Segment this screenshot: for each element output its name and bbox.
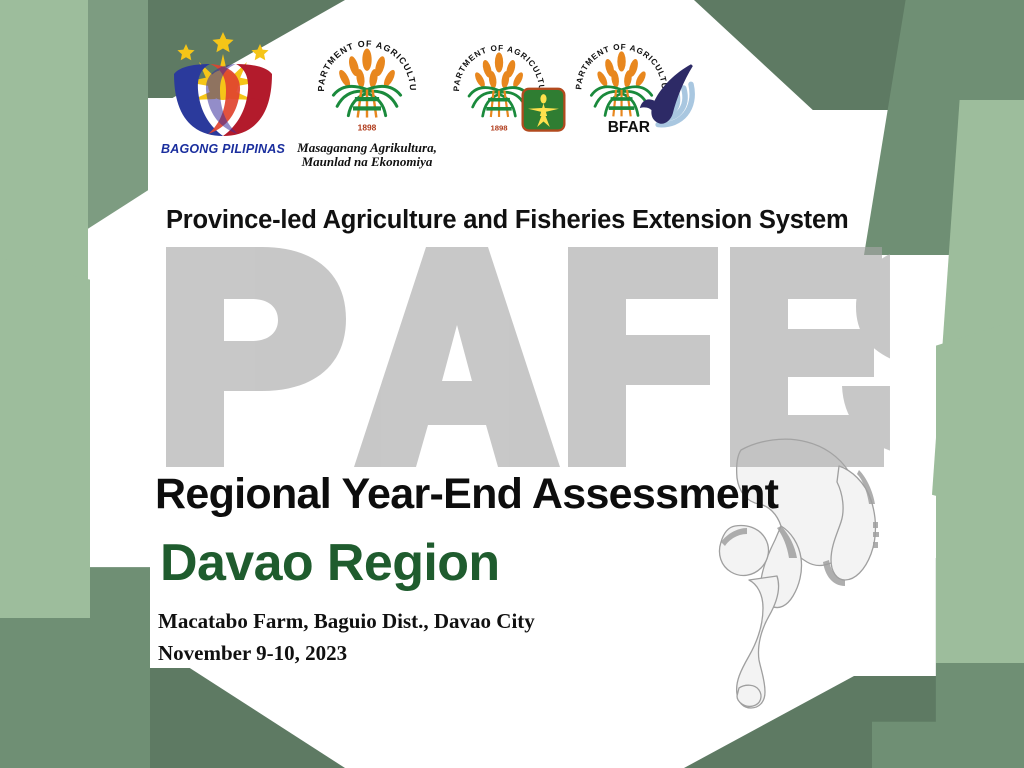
bagong-pilipinas-logo-icon	[164, 28, 282, 140]
bagong-pilipinas-logo: BAGONG PILIPINAS	[162, 28, 284, 168]
da-tagline-line2: Maunlad na Ekonomiya	[297, 155, 437, 170]
svg-text:1898: 1898	[490, 124, 508, 133]
decor-top-right-light	[932, 100, 1024, 520]
da-tagline-line1: Masaganang Agrikultura,	[297, 141, 437, 156]
region-name: Davao Region	[160, 533, 500, 593]
svg-text:1898: 1898	[358, 123, 377, 133]
bfar-logo: DEPARTMENT OF AGRICULTURE	[574, 28, 702, 158]
ati-logo-icon: DEPARTMENT OF AGRICULTURE	[450, 28, 568, 146]
page-subtitle: Province-led Agriculture and Fisheries E…	[166, 206, 848, 235]
decor-top-left-mid	[0, 0, 148, 232]
decor-bottom-left-dark	[0, 668, 345, 768]
da-tagline: Masaganang Agrikultura, Maunlad na Ekono…	[297, 141, 437, 170]
decor-bottom-right-light	[936, 318, 1024, 663]
decor-bottom-left-light	[0, 258, 90, 618]
logo-row: BAGONG PILIPINAS DEPARTMENT OF AGRICULTU…	[162, 28, 702, 170]
venue-text: Macatabo Farm, Baguio Dist., Davao City	[158, 609, 535, 634]
decor-top-right-dark	[694, 0, 1024, 110]
event-title: Regional Year-End Assessment	[155, 470, 778, 519]
bagong-pilipinas-caption: BAGONG PILIPINAS	[161, 142, 285, 156]
svg-text:BFAR: BFAR	[608, 119, 650, 136]
decor-top-left-light	[0, 0, 88, 500]
bfar-logo-icon: DEPARTMENT OF AGRICULTURE	[574, 28, 702, 148]
department-of-agriculture-logo-icon: DEPARTMENT OF AGRICULTURE	[308, 28, 426, 140]
pafes-wordmark	[150, 232, 890, 467]
decor-bottom-left-mid	[0, 523, 150, 768]
event-dates: November 9-10, 2023	[158, 641, 347, 666]
presentation-slide: BAGONG PILIPINAS DEPARTMENT OF AGRICULTU…	[0, 0, 1024, 768]
department-of-agriculture-logo: DEPARTMENT OF AGRICULTURE	[290, 28, 444, 170]
ati-logo: DEPARTMENT OF AGRICULTURE	[450, 28, 568, 158]
decor-top-right-mid	[864, 0, 1024, 255]
